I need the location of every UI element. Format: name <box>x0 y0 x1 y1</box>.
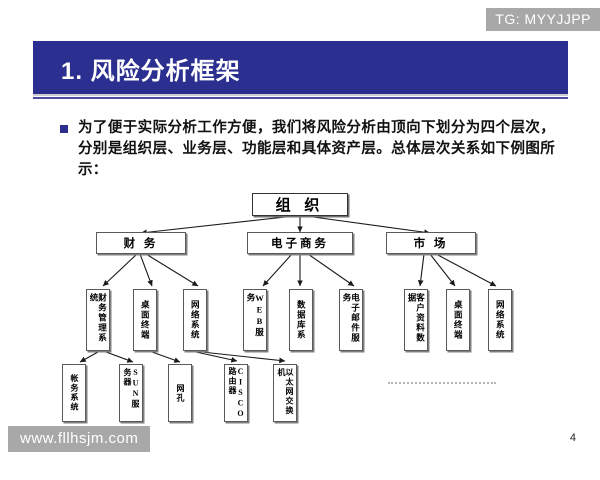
diagram-node-market[interactable]: 市 场 <box>386 232 476 254</box>
diagram-node-eth-switch[interactable]: 以太网交换机 <box>273 364 297 422</box>
diagram-node-desk-term-1[interactable]: 桌面终端 <box>133 289 157 351</box>
page-number: 4 <box>570 432 576 444</box>
diagram-node-sun-server[interactable]: SUN服务器 <box>119 364 143 422</box>
title-divider <box>33 97 568 99</box>
diagram-node-pc[interactable]: 网孔 <box>168 364 192 422</box>
diagram-node-db-sys[interactable]: 数据库系 <box>289 289 313 351</box>
diagram-node-acct-sys[interactable]: 帐务系统 <box>62 364 86 422</box>
diagram-node-mail-svc[interactable]: 电子邮件服务 <box>339 289 363 351</box>
page-title: 1. 风险分析框架 <box>61 51 241 86</box>
diagram-node-net-sys-2[interactable]: 网络系统 <box>488 289 512 351</box>
bullet-square-icon <box>60 125 68 133</box>
diagram-node-cust-data[interactable]: 客户资料数据 <box>404 289 428 351</box>
diagram-node-fin-mgmt[interactable]: 财务管理系统 <box>86 289 110 351</box>
diagram-node-desk-term-2[interactable]: 桌面终端 <box>446 289 470 351</box>
diagram-ellipsis-marker <box>388 382 496 386</box>
slide-canvas: TG: MYYJJPP 1. 风险分析框架 为了便于实际分析工作方便，我们将风险… <box>0 0 600 480</box>
slide-title-bar: 1. 风险分析框架 <box>33 41 568 94</box>
diagram-node-org[interactable]: 组 织 <box>252 193 348 216</box>
diagram-node-finance[interactable]: 财 务 <box>96 232 186 254</box>
watermark-top-right: TG: MYYJJPP <box>486 8 600 31</box>
diagram-node-net-sys-1[interactable]: 网络系统 <box>183 289 207 351</box>
diagram-node-ecommerce[interactable]: 电子商务 <box>247 232 353 254</box>
watermark-bottom-left: www.fllhsjm.com <box>8 426 150 452</box>
hierarchy-diagram: 组 织 财 务 电子商务 市 场 财务管理系统 桌面终端 网络系统 WEB服务 … <box>0 185 600 435</box>
bullet-paragraph: 为了便于实际分析工作方便，我们将风险分析由顶向下划分为四个层次，分别是组织层、业… <box>60 118 555 181</box>
diagram-node-web-svc[interactable]: WEB服务 <box>243 289 267 351</box>
body-text: 为了便于实际分析工作方便，我们将风险分析由顶向下划分为四个层次，分别是组织层、业… <box>78 118 555 181</box>
diagram-node-cisco-router[interactable]: CISCO路由器 <box>224 364 248 422</box>
